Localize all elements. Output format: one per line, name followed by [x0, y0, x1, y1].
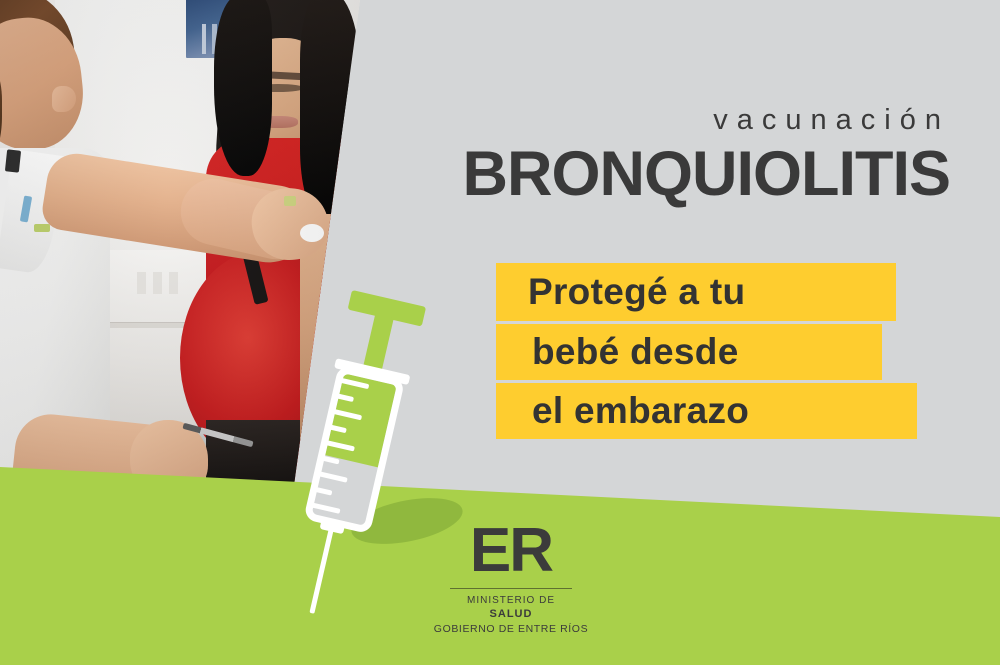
logo-monogram: ER: [428, 522, 594, 581]
logo-line-gobierno: GOBIERNO DE ENTRE RÍOS: [428, 622, 594, 636]
logo-line-ministerio: MINISTERIO DE: [428, 594, 594, 608]
page-title: BRONQUIOLITIS: [330, 138, 950, 210]
logo-line-salud: SALUD: [428, 607, 594, 622]
ministry-logo: ER MINISTERIO DE SALUD GOBIERNO DE ENTRE…: [428, 522, 594, 636]
vaccination-campaign-poster: vacunación BRONQUIOLITIS Protegé a tu be…: [0, 0, 1000, 665]
message-bar-2: bebé desde: [496, 324, 882, 380]
kicker-text: vacunación: [530, 104, 950, 137]
message-bar-1: Protegé a tu: [496, 263, 896, 321]
message-bar-3: el embarazo: [496, 383, 917, 439]
logo-divider: [450, 588, 572, 589]
